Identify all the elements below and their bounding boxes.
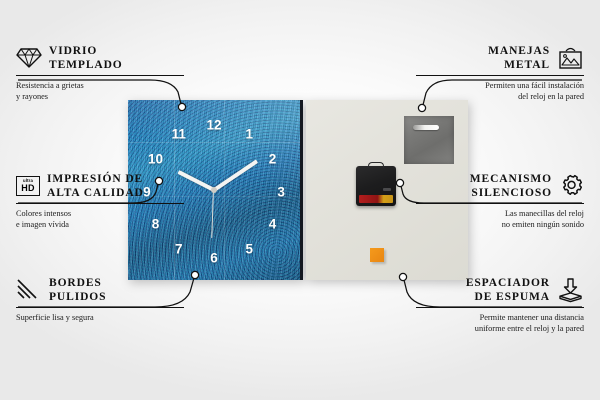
clock-numeral-7: 7 [175, 243, 183, 257]
metal-hanger-bracket [404, 116, 454, 164]
feature-heading: BORDES PULIDOS [16, 276, 184, 308]
mechanism-battery [359, 195, 393, 203]
polished-edges-icon [16, 279, 42, 301]
clock-numeral-5: 5 [245, 243, 253, 257]
gear-icon [559, 174, 584, 199]
feature-mecanismo-silencioso: MECANISMO SILENCIOSO Las manecillas del … [416, 172, 584, 230]
feature-title: MECANISMO SILENCIOSO [470, 172, 552, 200]
clock-center-cap [211, 187, 217, 193]
feature-bordes-pulidos: BORDES PULIDOS Superficie lisa y segura [16, 276, 184, 323]
quartz-clock-mechanism [356, 166, 396, 206]
picture-frame-icon [557, 47, 584, 70]
feature-heading: ultra HD IMPRESIÓN DE ALTA CALIDAD [16, 172, 184, 204]
feature-title: BORDES PULIDOS [49, 276, 106, 304]
feature-heading: MECANISMO SILENCIOSO [416, 172, 584, 204]
clock-numeral-3: 3 [277, 185, 285, 199]
clock-numeral-4: 4 [269, 217, 277, 231]
feature-heading: VIDRIO TEMPLADO [16, 44, 184, 76]
clock-numeral-11: 11 [172, 127, 186, 141]
hanger-keyhole-slot [413, 125, 439, 130]
feature-title: VIDRIO TEMPLADO [49, 44, 123, 72]
clock-numeral-1: 1 [245, 127, 253, 141]
clock-numeral-2: 2 [269, 153, 277, 167]
mechanism-label-dot [383, 188, 391, 191]
feature-title: MANEJAS METAL [488, 44, 550, 72]
feature-vidrio-templado: VIDRIO TEMPLADO Resistencia a grietas y … [16, 44, 184, 102]
clock-numeral-12: 12 [206, 118, 221, 132]
mechanism-hanging-tab [368, 162, 384, 168]
foam-spacer-icon [557, 278, 584, 303]
feature-espaciador-espuma: ESPACIADOR DE ESPUMA Permite mantener un… [416, 276, 584, 334]
ultra-hd-icon: ultra HD [16, 176, 40, 196]
feature-manejas-metal: MANEJAS METAL Permiten una fácil instala… [416, 44, 584, 102]
feature-title: ESPACIADOR DE ESPUMA [466, 276, 550, 304]
feature-description: Permiten una fácil instalación del reloj… [416, 80, 584, 102]
feature-heading: ESPACIADOR DE ESPUMA [416, 276, 584, 308]
feature-description: Las manecillas del reloj no emiten ningú… [416, 208, 584, 230]
diamond-icon [16, 47, 42, 69]
ultra-hd-icon-main-label: HD [21, 184, 35, 193]
infographic-canvas: 12 1 2 3 4 5 6 7 8 9 10 11 [0, 0, 600, 400]
clock-numeral-10: 10 [148, 153, 163, 167]
orange-foam-spacer [370, 248, 384, 262]
feature-impresion-alta-calidad: ultra HD IMPRESIÓN DE ALTA CALIDAD Color… [16, 172, 184, 230]
feature-description: Superficie lisa y segura [16, 312, 184, 323]
clock-numeral-6: 6 [210, 252, 218, 266]
feature-description: Resistencia a grietas y rayones [16, 80, 184, 102]
feature-description: Permite mantener una distancia uniforme … [416, 312, 584, 334]
feature-description: Colores intensos e imagen vívida [16, 208, 184, 230]
feature-heading: MANEJAS METAL [416, 44, 584, 76]
feature-title: IMPRESIÓN DE ALTA CALIDAD [47, 172, 144, 200]
